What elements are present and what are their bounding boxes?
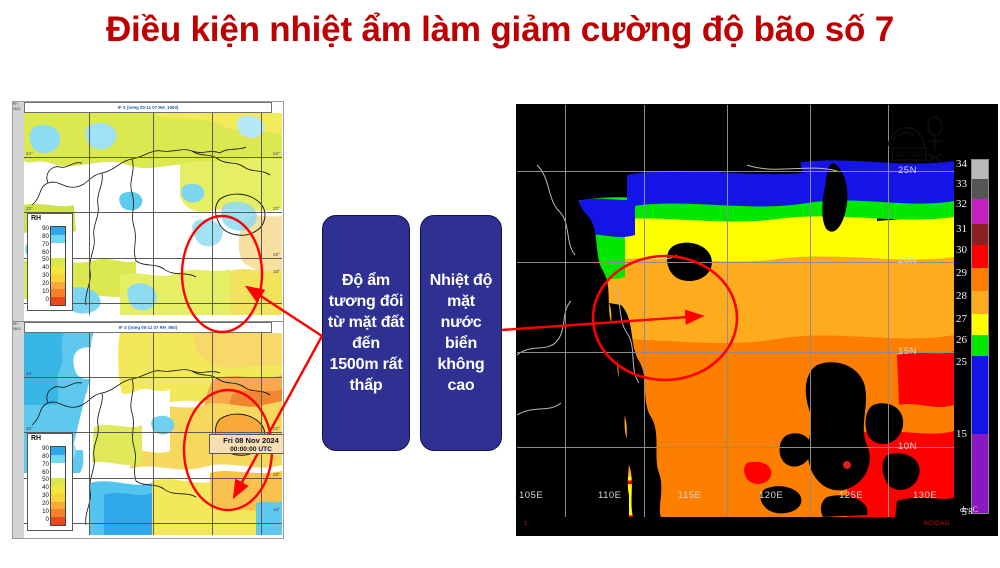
svg-text:01988: 01988 [896, 150, 923, 159]
lat-label: 24° [273, 151, 280, 156]
rh-legend-ticks: 90 80 70 60 50 40 30 20 10 0 [30, 225, 49, 307]
rh-header-bottom: IF S (integ 00-11 07 RH_850) [24, 322, 272, 333]
sst-colorbar-unit: degC [960, 504, 978, 514]
lat-label: 24° [26, 151, 33, 156]
rh-legend-bottom: RH 90 80 70 60 50 40 30 20 10 0 [27, 433, 73, 531]
cbar-tick-26: 26 [956, 334, 967, 346]
sst-footer-left: 1 [524, 521, 527, 527]
cbar-tick-15: 15 [956, 428, 967, 440]
rh-header-top: IF S (integ 00-11 07 RH_1000) [24, 102, 272, 113]
cbar-tick-33: 33 [956, 178, 967, 190]
date-stamp-date: Fri 08 Nov 2024 [210, 435, 284, 446]
cbar-tick-27: 27 [956, 313, 967, 325]
lon-label-125e: 125E [839, 490, 863, 501]
lat-label: 18° [273, 507, 280, 512]
callout-relative-humidity[interactable]: Độ ẩm tương đối từ mặt đất đến 1500m rất… [322, 215, 410, 451]
rh-panel-top: IF S (integ 00-11 07 RH_1000) RH08/11 24… [13, 102, 284, 321]
sst-colorbar-ticks: 34 33 32 31 30 29 28 27 26 25 15 5 [945, 154, 967, 519]
cbar-tick-29: 29 [956, 267, 967, 279]
rh-header-left-top: RH08/11 [13, 102, 29, 113]
lat-label: 20° [273, 472, 280, 477]
callout-text: Nhiệt độ mặt nước biển không cao [421, 270, 501, 396]
sst-figure: 105E 110E 115E 120E 125E 130E 25N 20N 15… [516, 104, 998, 536]
lat-label-10n: 10N [898, 441, 917, 452]
callout-text: Độ ẩm tương đối từ mặt đất đến 1500m rất… [323, 270, 409, 396]
rh-header-left-bottom: RH08/11 [13, 322, 29, 333]
lat-label-15n: 15N [898, 346, 917, 357]
panel-gutter [13, 322, 24, 539]
rh-legend-ticks: 90 80 70 60 50 40 30 20 10 0 [30, 445, 49, 527]
rh-legend-colorbar [50, 226, 66, 306]
date-stamp-time: 00:00:00 UTC [210, 446, 284, 454]
lat-label: 20° [273, 252, 280, 257]
sst-graticule: 105E 110E 115E 120E 125E 130E 25N 20N 15… [517, 105, 954, 517]
cbar-tick-34: 34 [956, 158, 967, 170]
date-stamp: Fri 08 Nov 2024 00:00:00 UTC [209, 434, 284, 454]
sst-footer-right: NCIOAG [923, 521, 950, 527]
cbar-tick-32: 32 [956, 198, 967, 210]
lat-label: 24° [26, 371, 33, 376]
rh-legend-title: RH [28, 214, 72, 222]
rh-legend-top: RH 90 80 70 60 50 40 30 20 10 0 [27, 213, 73, 311]
cbar-tick-28: 28 [956, 290, 967, 302]
relative-humidity-figure: IF S (integ 00-11 07 RH_1000) RH08/11 24… [12, 101, 284, 539]
lon-label-105e: 105E [519, 490, 543, 501]
lat-label: 22° [26, 426, 33, 431]
cbar-tick-30: 30 [956, 244, 967, 256]
cbar-tick-31: 31 [956, 223, 967, 235]
agency-logo-icon: 01988 [880, 110, 950, 166]
page-title: Điều kiện nhiệt ẩm làm giảm cường độ bão… [0, 10, 1000, 50]
lat-label: 18° [273, 269, 280, 274]
callout-sea-surface-temperature[interactable]: Nhiệt độ mặt nước biển không cao [420, 215, 502, 451]
lat-label-25n: 25N [898, 165, 917, 176]
lat-label: 22° [273, 206, 280, 211]
sst-footer: 1 NCIOAG [516, 517, 998, 536]
rh-legend-colorbar [50, 446, 66, 526]
lon-label-115e: 115E [678, 490, 701, 501]
lat-label-20n: 20N [898, 255, 917, 266]
lat-label: 22° [273, 426, 280, 431]
lon-label-130e: 130E [913, 490, 937, 501]
rh-legend-title: RH [28, 434, 72, 442]
lon-label-120e: 120E [759, 490, 783, 501]
rh-panel-bottom: IF S (integ 00-11 07 RH_850) RH08/11 24°… [13, 321, 284, 539]
lon-label-110e: 110E [598, 490, 621, 501]
lat-label: 22° [26, 206, 33, 211]
panel-gutter [13, 102, 24, 321]
sst-colorbar [971, 159, 989, 514]
cbar-tick-25: 25 [956, 356, 967, 368]
